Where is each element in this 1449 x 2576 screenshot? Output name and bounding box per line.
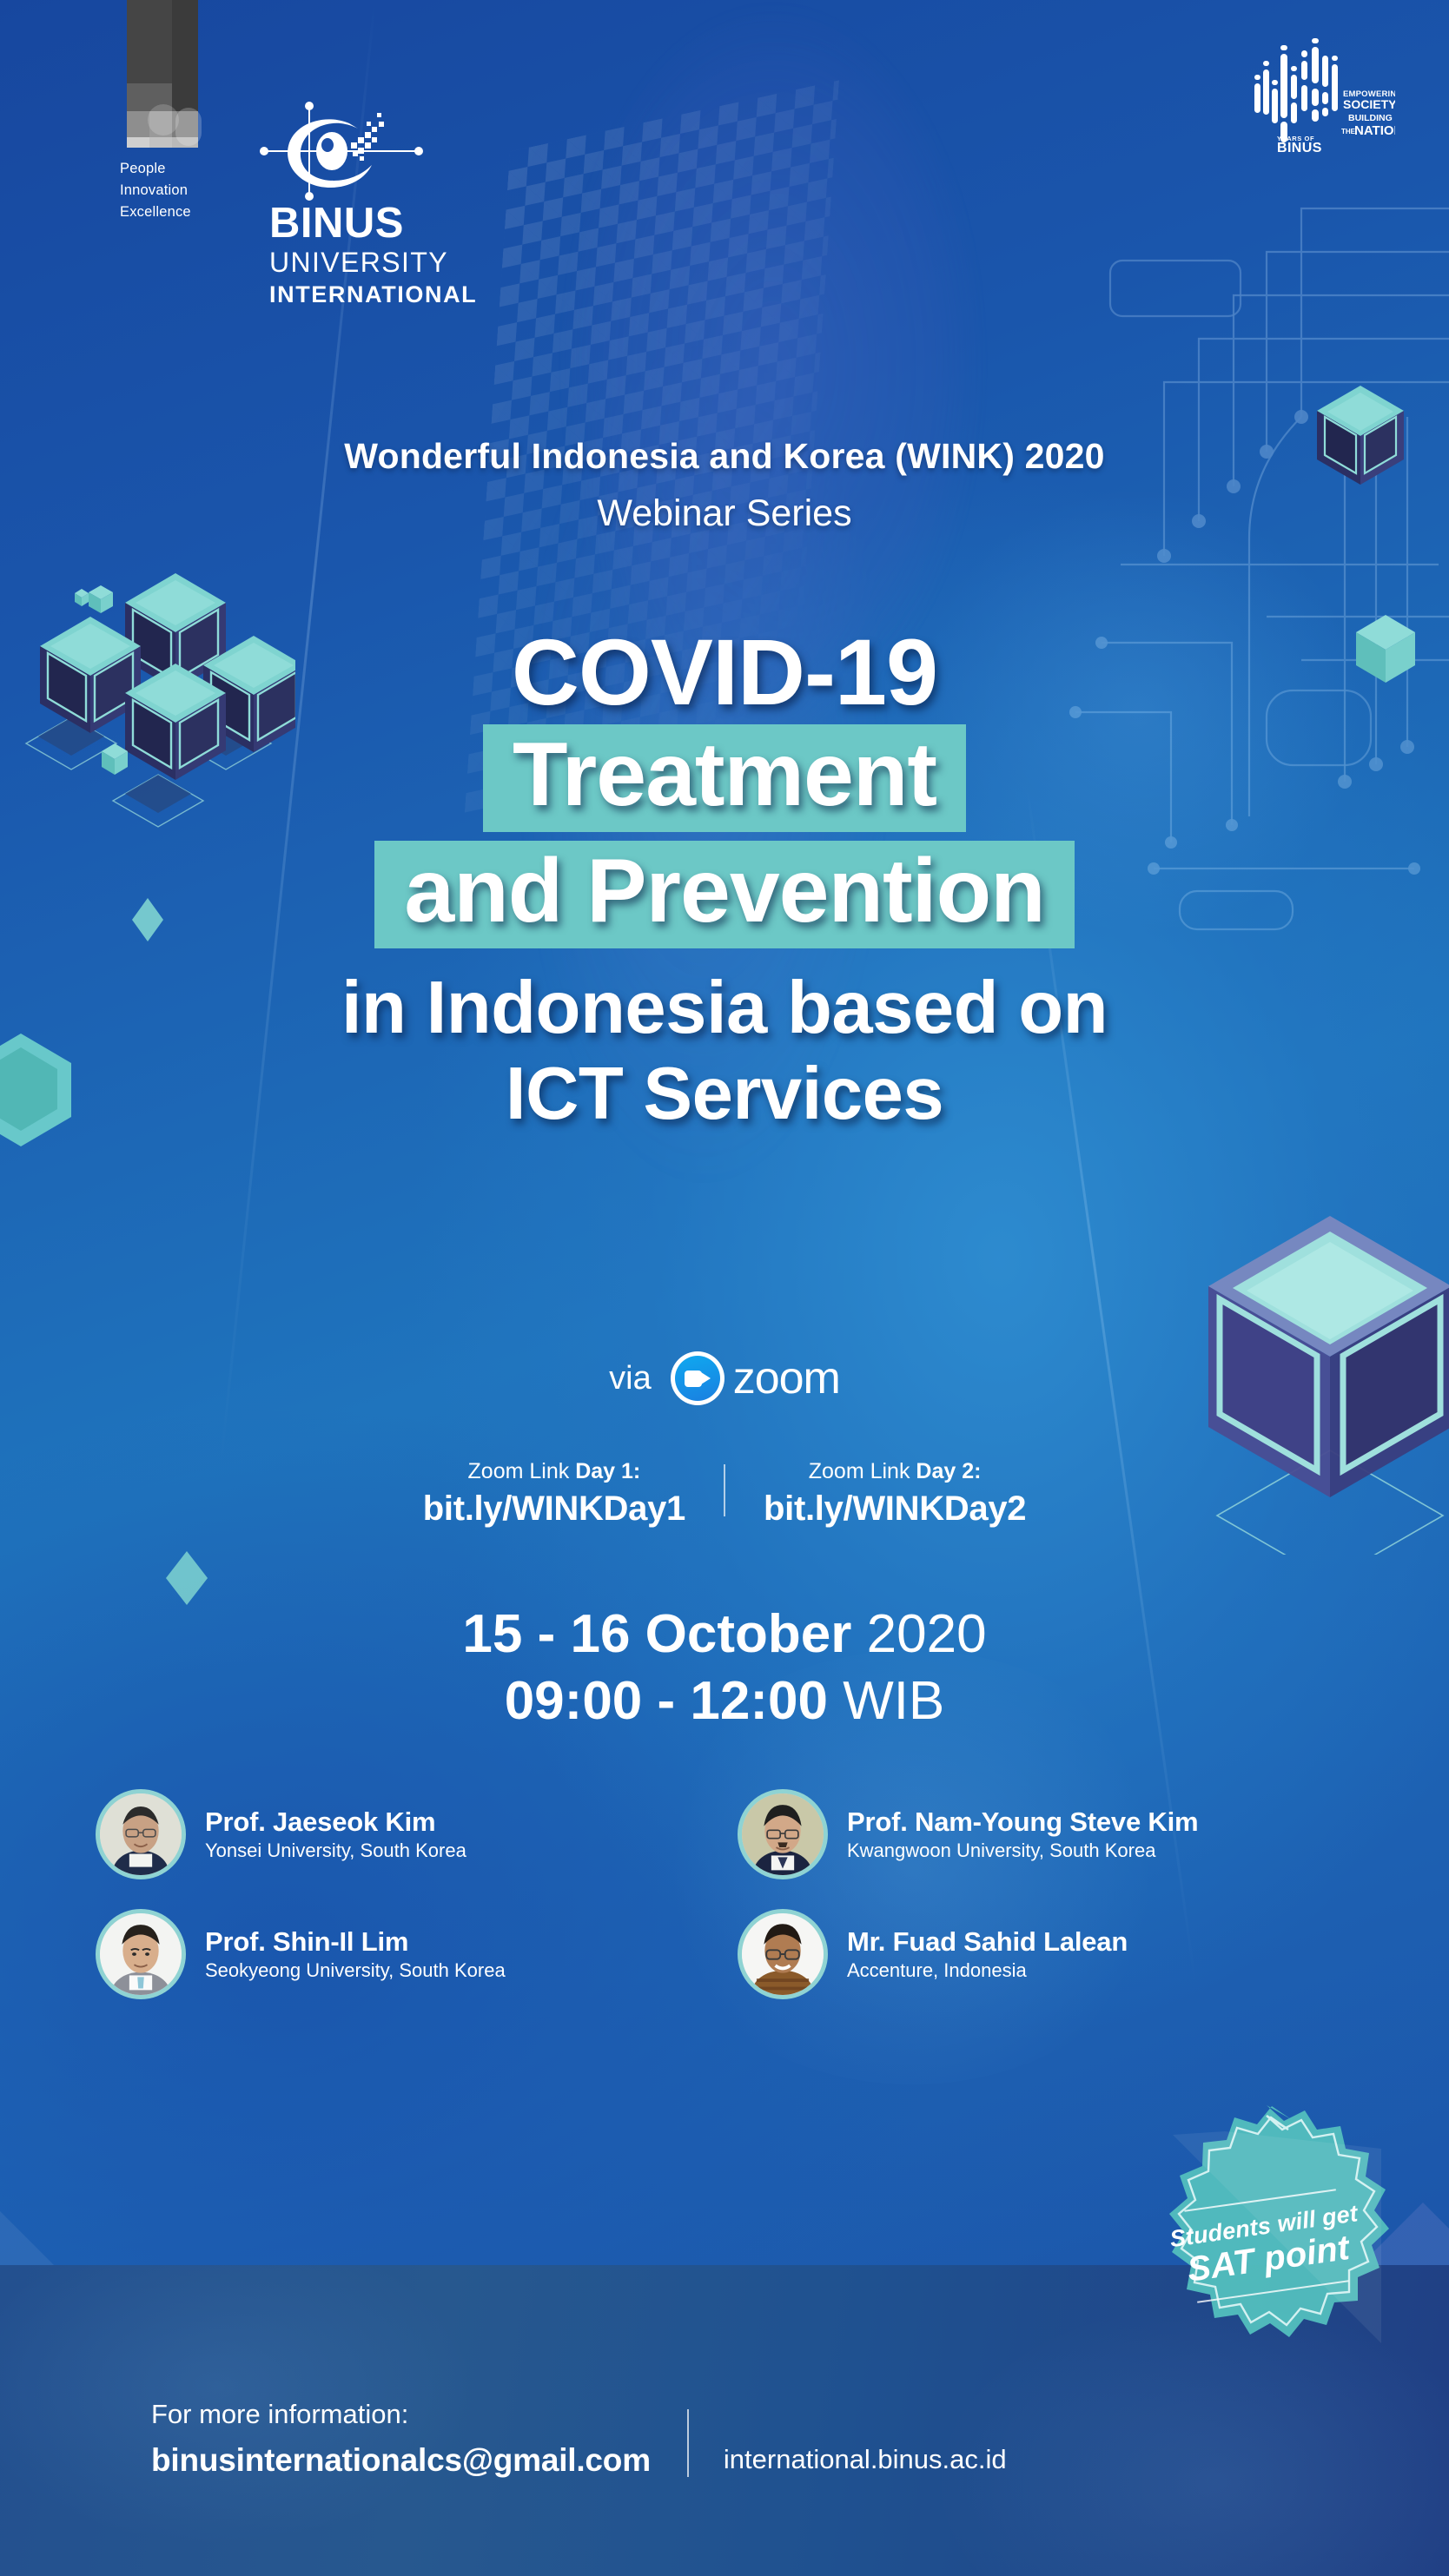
more-info-label: For more information: xyxy=(151,2399,651,2430)
zoom-wordmark: zoom xyxy=(733,1352,840,1404)
speaker-name: Mr. Fuad Sahid Lalean xyxy=(847,1926,1128,1958)
pie-tagline-line-1: Innovation xyxy=(120,180,208,201)
zoom-link-day-2[interactable]: Zoom Link Day 2: bit.ly/WINKDay2 xyxy=(725,1459,1064,1529)
schedule-time-range: 09:00 - 12:00 xyxy=(505,1671,828,1731)
speaker-info: Prof. Shin-Il Lim Seokyeong University, … xyxy=(205,1926,506,1982)
people-innovation-excellence-logo: People Innovation Excellence xyxy=(120,0,208,223)
speaker-affiliation: Seokyeong University, South Korea xyxy=(205,1959,506,1982)
schedule-timezone: WIB xyxy=(843,1671,944,1731)
event-series-header: Wonderful Indonesia and Korea (WINK) 202… xyxy=(0,436,1449,535)
title-row-1: COVID-19 xyxy=(0,625,1449,719)
pie-tagline-line-0: People xyxy=(120,158,208,180)
title-row-4: in Indonesia based on xyxy=(0,971,1449,1045)
status-badge: Students will get SAT point xyxy=(1121,2100,1413,2392)
via-label: via xyxy=(609,1360,652,1397)
pie-logo-tagline: People Innovation Excellence xyxy=(120,158,208,223)
title-line-ict: ICT Services xyxy=(506,1057,943,1131)
schedule-block: 15 - 16 October 2020 09:00 - 12:00 WIB xyxy=(0,1602,1449,1733)
speaker-card: Prof. Jaeseok Kim Yonsei University, Sou… xyxy=(96,1789,713,1879)
schedule-year: 2020 xyxy=(867,1604,987,1664)
svg-text:SOCIETY: SOCIETY xyxy=(1343,97,1395,111)
zoom-logo: zoom xyxy=(671,1351,840,1405)
avatar xyxy=(738,1789,828,1879)
small-diamond-2 xyxy=(160,1546,214,1610)
schedule-time: 09:00 - 12:00 WIB xyxy=(0,1669,1449,1733)
schedule-date: 15 - 16 October 2020 xyxy=(0,1602,1449,1666)
title-line-covid: COVID-19 xyxy=(512,625,937,719)
zoom-link-day-1[interactable]: Zoom Link Day 1: bit.ly/WINKDay1 xyxy=(385,1459,724,1529)
speaker-card: Mr. Fuad Sahid Lalean Accenture, Indones… xyxy=(738,1909,1355,1999)
avatar xyxy=(96,1909,186,1999)
speaker-info: Prof. Nam-Young Steve Kim Kwangwoon Univ… xyxy=(847,1807,1198,1862)
zoom-link-day-1-url[interactable]: bit.ly/WINKDay1 xyxy=(423,1489,685,1529)
title-row-2: Treatment xyxy=(0,724,1449,832)
pie-logo-mark xyxy=(127,0,198,148)
speaker-name: Prof. Jaeseok Kim xyxy=(205,1807,466,1838)
title-line-prevention: and Prevention xyxy=(374,841,1074,948)
speaker-affiliation: Accenture, Indonesia xyxy=(847,1959,1128,1982)
speaker-card: Prof. Shin-Il Lim Seokyeong University, … xyxy=(96,1909,713,1999)
footer-left: For more information: binusinternational… xyxy=(151,2399,651,2479)
badge-caption: Students will get SAT point xyxy=(1102,2081,1431,2410)
title-line-treatment: Treatment xyxy=(483,724,966,832)
binus-wordmark: BINUS UNIVERSITY INTERNATIONAL xyxy=(269,202,582,310)
speaker-info: Prof. Jaeseok Kim Yonsei University, Sou… xyxy=(205,1807,466,1862)
poster-canvas: People Innovation Excellence xyxy=(0,0,1449,2576)
binus-wordmark-line-1: BINUS xyxy=(269,202,582,245)
main-title-block: COVID-19 Treatment and Prevention in Ind… xyxy=(0,625,1449,1136)
svg-text:NATION: NATION xyxy=(1354,123,1395,138)
binus-university-international-logo: BINUS UNIVERSITY INTERNATIONAL xyxy=(269,97,582,310)
zoom-links-row: Zoom Link Day 1: bit.ly/WINKDay1 Zoom Li… xyxy=(0,1459,1449,1529)
speaker-name: Prof. Shin-Il Lim xyxy=(205,1926,506,1958)
video-camera-icon xyxy=(671,1351,724,1405)
speaker-info: Mr. Fuad Sahid Lalean Accenture, Indones… xyxy=(847,1926,1128,1982)
speakers-grid: Prof. Jaeseok Kim Yonsei University, Sou… xyxy=(96,1789,1355,1999)
avatar xyxy=(96,1789,186,1879)
title-row-5: ICT Services xyxy=(0,1057,1449,1131)
title-row-3: and Prevention xyxy=(0,841,1449,948)
contact-email[interactable]: binusinternationalcs@gmail.com xyxy=(151,2442,651,2479)
binus-eye-icon xyxy=(259,97,424,206)
footer-contact: For more information: binusinternational… xyxy=(151,2399,1007,2479)
speaker-affiliation: Yonsei University, South Korea xyxy=(205,1840,466,1862)
speaker-affiliation: Kwangwoon University, South Korea xyxy=(847,1840,1198,1862)
footer-divider xyxy=(687,2409,689,2477)
pie-tagline-line-2: Excellence xyxy=(120,201,208,223)
avatar xyxy=(738,1909,828,1999)
speaker-card: Prof. Nam-Young Steve Kim Kwangwoon Univ… xyxy=(738,1789,1355,1879)
svg-text:BUILDING: BUILDING xyxy=(1348,113,1393,123)
binus-40-years-anniversary-logo: EMPOWERING SOCIETY BUILDING THE NATION Y… xyxy=(1239,35,1395,152)
zoom-link-day-2-url[interactable]: bit.ly/WINKDay2 xyxy=(764,1489,1026,1529)
series-subtitle: Webinar Series xyxy=(0,492,1449,535)
zoom-link-day-2-label: Zoom Link Day 2: xyxy=(764,1459,1026,1484)
schedule-date-range: 15 - 16 October xyxy=(462,1604,851,1664)
binus-wordmark-line-2: UNIVERSITY xyxy=(269,245,582,280)
zoom-link-day-1-label: Zoom Link Day 1: xyxy=(423,1459,685,1484)
speaker-name: Prof. Nam-Young Steve Kim xyxy=(847,1807,1198,1838)
platform-row: via zoom xyxy=(0,1351,1449,1405)
series-title: Wonderful Indonesia and Korea (WINK) 202… xyxy=(0,436,1449,477)
binus-wordmark-line-3: INTERNATIONAL xyxy=(269,280,582,310)
contact-website[interactable]: international.binus.ac.id xyxy=(724,2444,1007,2479)
svg-text:BINUS: BINUS xyxy=(1277,141,1322,152)
title-line-indonesia: in Indonesia based on xyxy=(341,971,1108,1045)
